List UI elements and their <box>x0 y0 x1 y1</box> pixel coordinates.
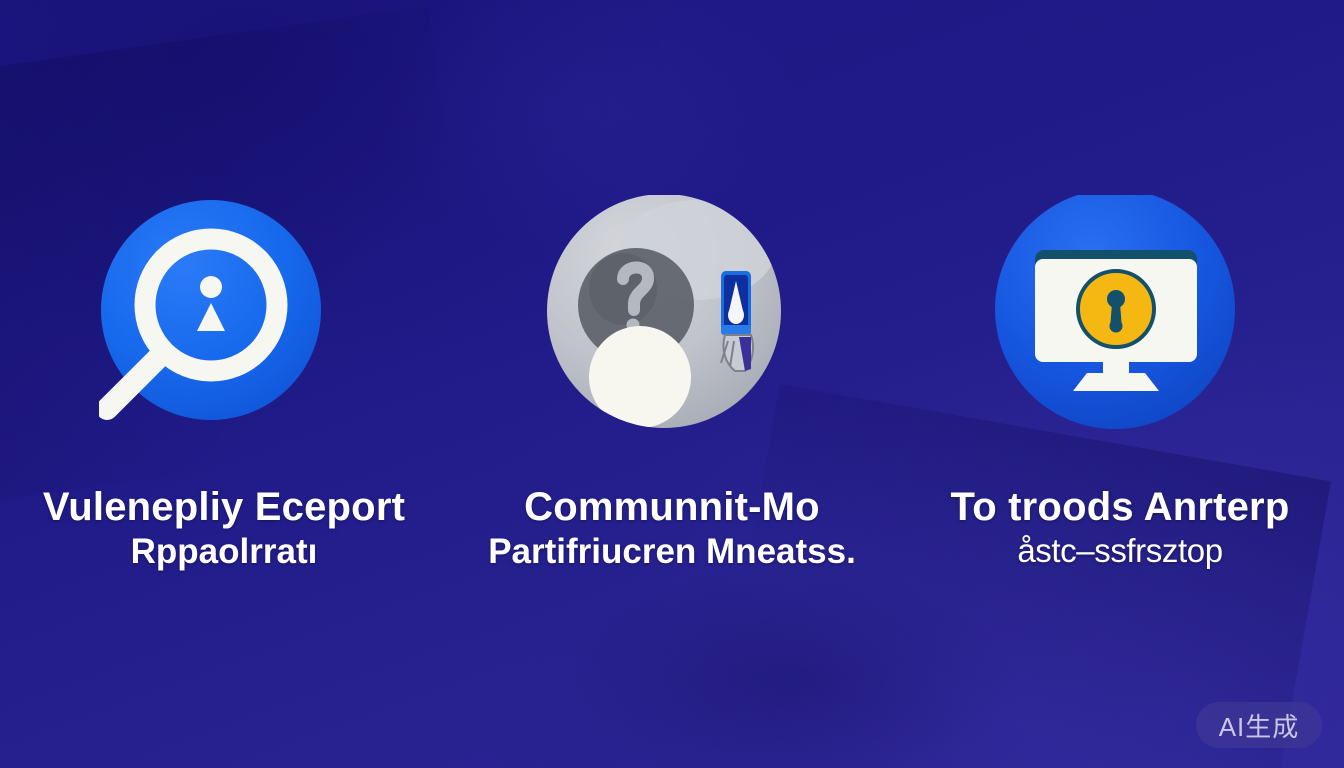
caption-line-1: Communnit-Mo <box>457 487 887 527</box>
monitor-lock-icon <box>995 195 1245 445</box>
question-user-device-icon <box>547 195 797 445</box>
watermark-label: AI生成 <box>1219 707 1300 744</box>
caption-line-1: To troods Anrterp <box>905 487 1335 527</box>
feature-card-tools-enterprise[interactable]: To troods Anrterp åstc–ssfrsztop <box>896 0 1344 571</box>
caption-line-1: Vulenepliy Eceport <box>9 487 439 527</box>
caption-line-2: Rppaolrratı <box>9 531 439 573</box>
feature-columns: Vulenepliy Eceport Rppaolrratı <box>0 0 1344 768</box>
magnifier-person-icon <box>99 195 349 445</box>
caption-line-2: åstc–ssfrsztop <box>905 531 1335 571</box>
feature-card-community-participation[interactable]: Communnit-Mo Partifriucren Mneatss. <box>448 0 896 573</box>
feature-card-vulnerability-report[interactable]: Vulenepliy Eceport Rppaolrratı <box>0 0 448 573</box>
ai-generated-watermark: AI生成 <box>1196 702 1322 748</box>
slide-canvas: Vulenepliy Eceport Rppaolrratı <box>0 0 1344 768</box>
caption-line-2: Partifriucren Mneatss. <box>457 531 887 573</box>
caption-community-participation: Communnit-Mo Partifriucren Mneatss. <box>457 487 887 573</box>
caption-tools-enterprise: To troods Anrterp åstc–ssfrsztop <box>905 487 1335 571</box>
caption-vulnerability-report: Vulenepliy Eceport Rppaolrratı <box>9 487 439 573</box>
